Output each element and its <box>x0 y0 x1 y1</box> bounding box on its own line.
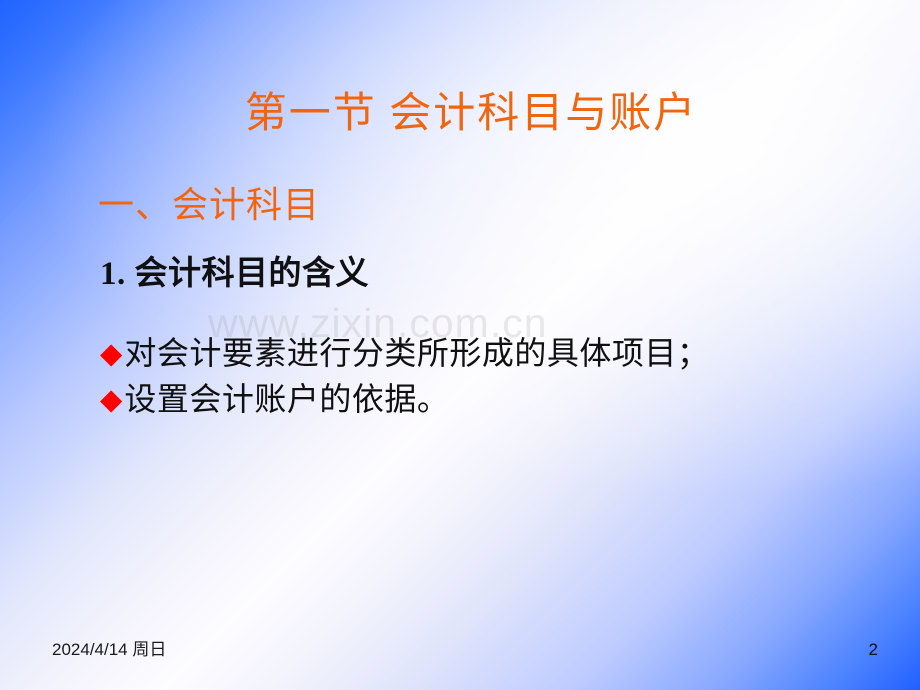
list-item: ◆ 对会计要素进行分类所形成的具体项目； <box>100 330 709 376</box>
section-heading-level-1: 一、会计科目 <box>98 186 320 226</box>
list-item-label: 对会计要素进行分类所形成的具体项目； <box>124 330 709 376</box>
page-title: 第一节 会计科目与账户 <box>0 92 920 136</box>
slide-canvas: www.zixin.com.cn 第一节 会计科目与账户 一、会计科目 1. 会… <box>0 0 920 690</box>
bullet-list: ◆ 对会计要素进行分类所形成的具体项目； ◆ 设置会计账户的依据。 <box>100 330 709 423</box>
footer-date: 2024/4/14 周日 <box>52 635 166 660</box>
section-heading-level-2: 1. 会计科目的含义 <box>100 256 369 292</box>
list-item-label: 设置会计账户的依据。 <box>124 376 449 422</box>
list-item: ◆ 设置会计账户的依据。 <box>100 376 709 422</box>
diamond-bullet-icon: ◆ <box>100 386 122 415</box>
slide-content: 第一节 会计科目与账户 一、会计科目 1. 会计科目的含义 ◆ 对会计要素进行分… <box>0 0 920 690</box>
diamond-bullet-icon: ◆ <box>100 340 122 369</box>
page-number: 2 <box>869 640 878 660</box>
